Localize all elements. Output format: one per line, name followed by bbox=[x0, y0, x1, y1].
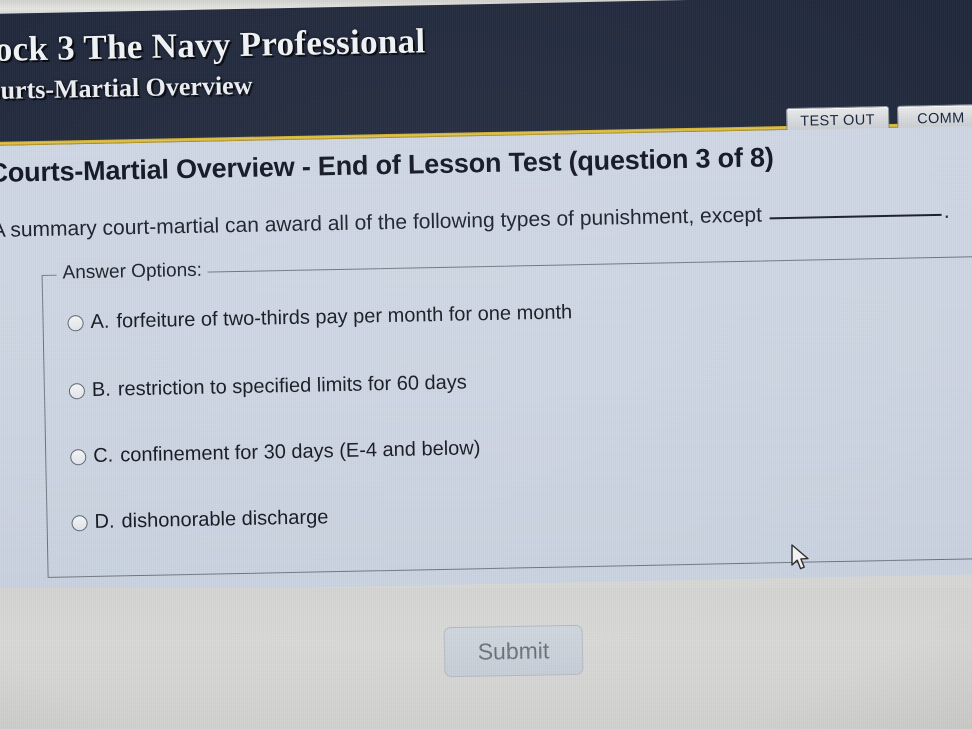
radio-icon-b[interactable] bbox=[69, 383, 85, 399]
answer-text-a: forfeiture of two-thirds pay per month f… bbox=[116, 301, 572, 333]
answer-text-d: dishonorable discharge bbox=[121, 506, 328, 533]
answer-options-legend: Answer Options: bbox=[56, 260, 208, 285]
answer-text-b: restriction to specified limits for 60 d… bbox=[118, 371, 467, 401]
answer-letter-d: D. bbox=[94, 511, 114, 534]
answer-options-fieldset: Answer Options: A. forfeiture of two-thi… bbox=[42, 256, 972, 578]
lesson-title: ourts-Martial Overview bbox=[0, 71, 253, 106]
answer-option-d[interactable]: D. dishonorable discharge bbox=[71, 506, 328, 534]
submit-button[interactable]: Submit bbox=[444, 625, 584, 677]
radio-icon-c[interactable] bbox=[70, 449, 86, 465]
answer-option-c[interactable]: C. confinement for 30 days (E-4 and belo… bbox=[70, 437, 481, 468]
answer-letter-a: A. bbox=[90, 311, 109, 334]
answer-option-b[interactable]: B. restriction to specified limits for 6… bbox=[69, 371, 467, 402]
question-stem: A summary court-martial can award all of… bbox=[0, 200, 950, 243]
radio-icon-d[interactable] bbox=[71, 515, 87, 531]
course-title: lock 3 The Navy Professional bbox=[0, 21, 426, 70]
answer-letter-b: B. bbox=[92, 379, 111, 402]
answer-option-a[interactable]: A. forfeiture of two-thirds pay per mont… bbox=[67, 301, 572, 334]
question-panel: Courts-Martial Overview - End of Lesson … bbox=[0, 126, 972, 594]
question-stem-text: A summary court-martial can award all of… bbox=[0, 203, 762, 241]
page-title: Courts-Martial Overview - End of Lesson … bbox=[0, 142, 774, 189]
exam-screen: lock 3 The Navy Professional ourts-Marti… bbox=[0, 0, 972, 729]
answer-letter-c: C. bbox=[93, 445, 113, 468]
answer-blank bbox=[770, 214, 942, 219]
answer-text-c: confinement for 30 days (E-4 and below) bbox=[120, 437, 481, 467]
arrow-pointer-icon bbox=[791, 544, 813, 574]
radio-icon-a[interactable] bbox=[67, 315, 83, 331]
question-stem-period: . bbox=[943, 200, 949, 223]
